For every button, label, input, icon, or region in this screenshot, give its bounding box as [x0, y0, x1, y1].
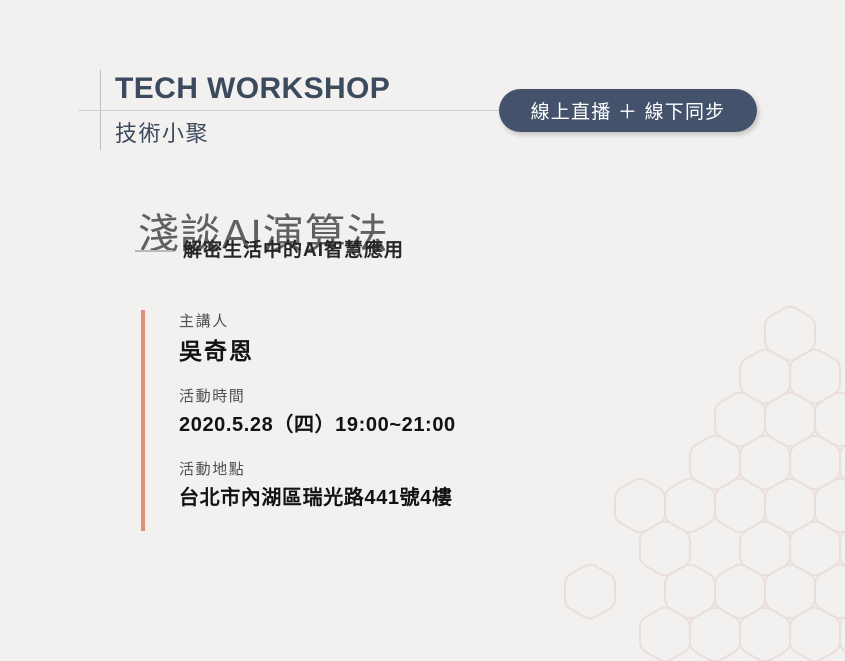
details-accent-bar — [141, 310, 145, 531]
event-banner: TECH WORKSHOP 技術小聚 線上直播 ＋ 線下同步 淺談AI演算法 解… — [0, 0, 845, 661]
detail-value-speaker: 吳奇恩 — [179, 335, 579, 367]
subtitle: 解密生活中的AI智慧應用 — [135, 238, 404, 264]
kicker-english: TECH WORKSHOP — [115, 72, 390, 106]
detail-item-speaker: 主講人 吳奇恩 — [179, 311, 579, 367]
status-badge: 線上直播 ＋ 線下同步 — [499, 89, 757, 132]
details-list: 主講人 吳奇恩 活動時間 2020.5.28（四）19:00~21:00 活動地… — [179, 311, 579, 513]
subtitle-dash-icon — [135, 250, 173, 252]
detail-label-speaker: 主講人 — [179, 311, 579, 333]
detail-item-time: 活動時間 2020.5.28（四）19:00~21:00 — [179, 386, 579, 440]
detail-value-location: 台北市內湖區瑞光路441號4樓 — [179, 483, 579, 513]
subtitle-text: 解密生活中的AI智慧應用 — [183, 238, 404, 264]
kicker-chinese: 技術小聚 — [115, 120, 209, 148]
detail-item-location: 活動地點 台北市內湖區瑞光路441號4樓 — [179, 459, 579, 513]
header-horizontal-rule — [78, 110, 502, 111]
detail-label-location: 活動地點 — [179, 459, 579, 481]
detail-value-time: 2020.5.28（四）19:00~21:00 — [179, 410, 579, 440]
status-badge-label: 線上直播 ＋ 線下同步 — [531, 97, 726, 124]
detail-label-time: 活動時間 — [179, 386, 579, 408]
